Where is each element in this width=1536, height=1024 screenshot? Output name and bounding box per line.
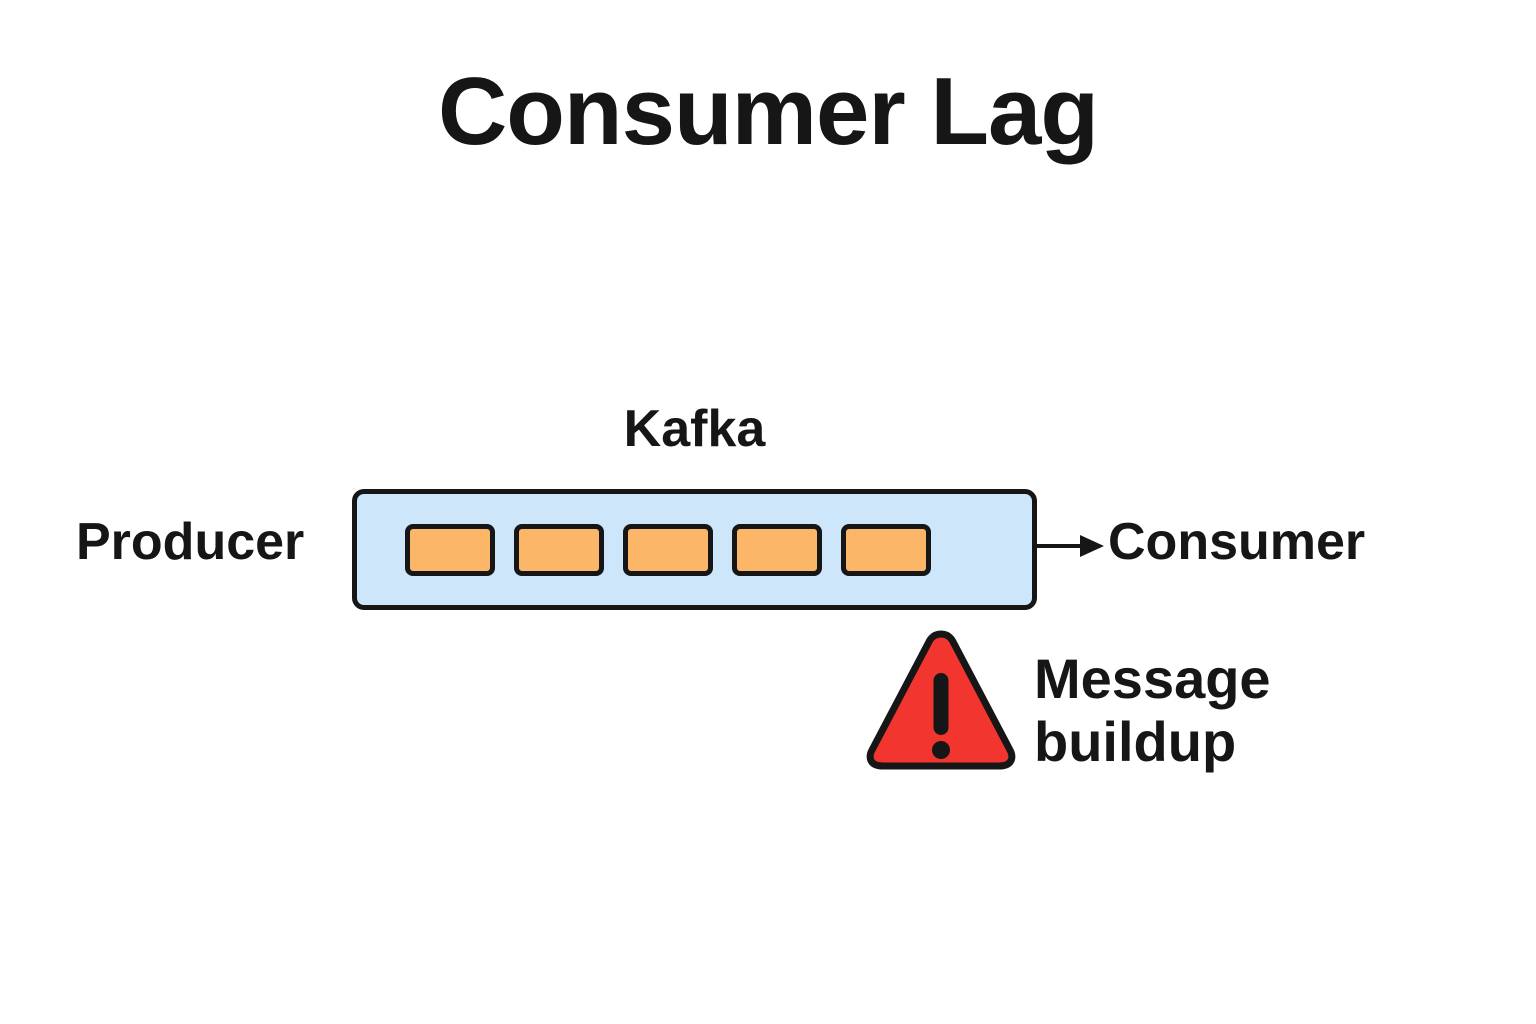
broker-to-consumer-arrow-icon — [1034, 524, 1104, 568]
message-block — [841, 524, 931, 576]
warning-text-line-1: Message — [1034, 648, 1271, 711]
message-block — [732, 524, 822, 576]
kafka-broker-label: Kafka — [352, 403, 1037, 455]
warning-triangle-icon — [866, 622, 1016, 772]
message-block — [623, 524, 713, 576]
diagram-canvas: Consumer Lag Kafka Producer Consumer Mes… — [0, 0, 1536, 1024]
message-buildup-annotation: Message buildup — [1034, 648, 1271, 773]
message-block — [514, 524, 604, 576]
kafka-broker-box — [352, 489, 1037, 610]
consumer-label: Consumer — [1108, 516, 1365, 568]
page-title: Consumer Lag — [0, 62, 1536, 163]
warning-text-line-2: buildup — [1034, 711, 1271, 774]
message-block — [405, 524, 495, 576]
producer-label: Producer — [76, 516, 304, 568]
